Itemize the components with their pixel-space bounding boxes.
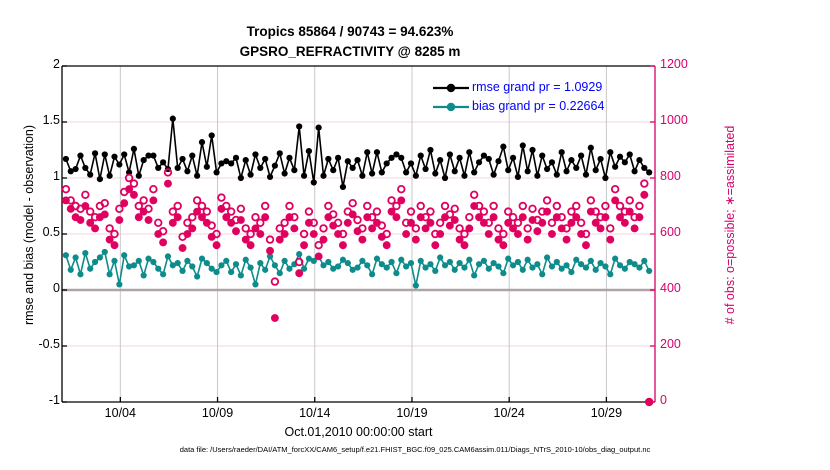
legend-label-rmse: rmse grand pr = 1.0929	[472, 78, 602, 97]
x-axis-label: Oct.01,2010 00:00:00 start	[62, 425, 655, 439]
series-open-circle	[63, 169, 653, 405]
data-file-footer: data file: /Users/raeder/DAI/ATM_forcXX/…	[0, 445, 830, 454]
legend-item-rmse[interactable]: rmse grand pr = 1.0929	[432, 78, 604, 97]
legend-item-bias[interactable]: bias grand pr = 0.22664	[432, 97, 604, 116]
x-tick-10/24: 10/24	[474, 406, 544, 420]
x-tick-10/14: 10/14	[280, 406, 350, 420]
y-axis-left-ticks: -1-0.500.511.52	[12, 0, 60, 470]
x-tick-10/04: 10/04	[85, 406, 155, 420]
y-axis-left-label: rmse and bias (model - observation)	[22, 60, 36, 390]
x-tick-10/29: 10/29	[571, 406, 641, 420]
y-tick-right-600: 600	[660, 225, 706, 239]
x-tick-10/19: 10/19	[377, 406, 447, 420]
series-filled-circle	[63, 249, 652, 289]
y-tick-left--1: -1	[20, 393, 60, 407]
y-tick-right-0: 0	[660, 393, 706, 407]
y-tick-right-1000: 1000	[660, 113, 706, 127]
y-axis-right-label: # of obs: o=possible; ∗=assimilated	[722, 60, 737, 390]
y-axis-right-ticks: 020040060080010001200	[660, 0, 720, 470]
series-asterisk	[62, 180, 653, 406]
legend-label-bias: bias grand pr = 0.22664	[472, 97, 604, 116]
y-tick-right-1200: 1200	[660, 57, 706, 71]
x-tick-10/09: 10/09	[183, 406, 253, 420]
y-tick-right-400: 400	[660, 281, 706, 295]
y-tick-right-800: 800	[660, 169, 706, 183]
series-filled-circle	[63, 116, 652, 191]
figure-root: Tropics 85864 / 90743 = 94.623% GPSRO_RE…	[0, 0, 830, 470]
y-tick-right-200: 200	[660, 337, 706, 351]
legend: rmse grand pr = 1.0929 bias grand pr = 0…	[432, 78, 604, 116]
legend-marker-bias-icon	[432, 100, 470, 114]
legend-marker-rmse-icon	[432, 81, 470, 95]
